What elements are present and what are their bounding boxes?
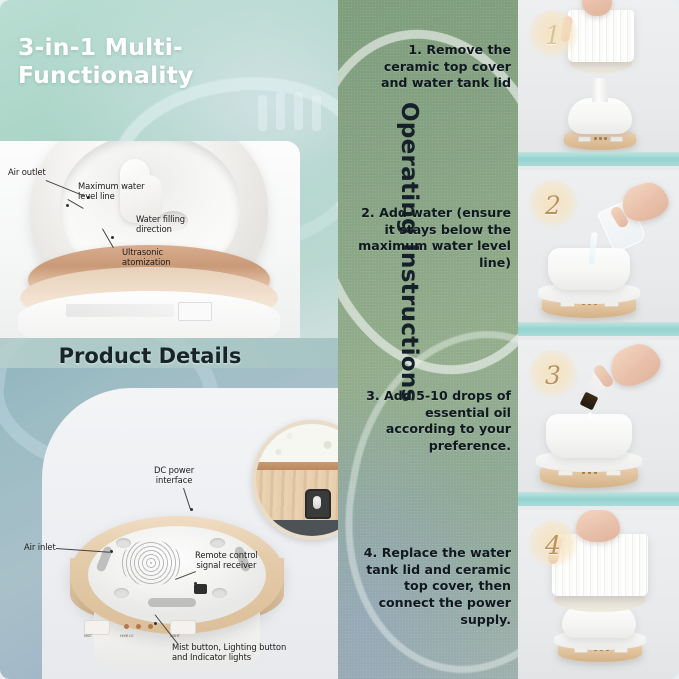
indicator-dot-1a xyxy=(594,137,597,140)
step-badge-2: 2 xyxy=(528,180,578,230)
rubber-foot-top-left xyxy=(116,538,131,548)
lighting-button-plate xyxy=(170,620,196,635)
callout-air-outlet: Air outlet xyxy=(8,168,46,178)
photo-panel-2: 2 xyxy=(518,170,679,336)
control-plate-1b xyxy=(610,136,623,142)
indicator-led-2 xyxy=(136,624,141,629)
photo-panel-4: 4 xyxy=(518,510,679,679)
water-strip-2 xyxy=(518,322,679,336)
indicator-microtext: HI MI LO xyxy=(120,634,133,638)
leader-dot-ultrasonic xyxy=(111,236,114,239)
rubber-foot-bottom-right xyxy=(212,588,227,598)
base-label-print xyxy=(66,304,174,317)
water-tank-1 xyxy=(568,98,632,134)
callout-mist-lighting-indicator: Mist button, Lighting button and Indicat… xyxy=(172,643,286,663)
water-strip-3 xyxy=(518,492,679,506)
product-details-panel: Product Details xyxy=(0,338,338,679)
step-badge-3-number: 3 xyxy=(545,361,561,390)
hand-4 xyxy=(576,510,620,542)
oil-drop-3 xyxy=(588,412,592,419)
product-infographic: 3-in-1 Multi-Functionality Air outlet Ma… xyxy=(0,0,679,679)
leader-dot-dc-power xyxy=(190,508,193,511)
step-badge-3: 3 xyxy=(528,350,578,400)
callout-maximum-water-level-line: Maximum water level line xyxy=(78,182,145,202)
step-badge-1-number: 1 xyxy=(545,21,561,50)
step-text-1: 1. Remove the ceramic top cover and wate… xyxy=(353,42,511,92)
step-badge-4: 4 xyxy=(528,520,578,570)
water-strip-1 xyxy=(518,152,679,166)
air-inlet-mesh-icon xyxy=(120,540,182,586)
mist-button-microtext: MIST xyxy=(84,634,92,638)
page-title: 3-in-1 Multi-Functionality xyxy=(18,33,328,89)
ghost-column-2-icon xyxy=(276,92,285,130)
dc-power-port-shape xyxy=(305,489,331,519)
leader-dot-buttons xyxy=(154,622,157,625)
rubber-foot-bottom-left xyxy=(114,588,129,598)
indicator-led-3 xyxy=(148,624,153,629)
dc-power-port-inset-photo xyxy=(252,420,338,540)
leader-dot-max-level xyxy=(66,204,69,207)
ghost-column-3-icon xyxy=(294,92,303,130)
callout-air-inlet: Air inlet xyxy=(24,543,56,553)
leader-dot-air-inlet xyxy=(110,550,113,553)
callout-water-filling-direction: Water filling direction xyxy=(136,215,185,235)
photo-strip-column: 1 2 xyxy=(518,0,679,679)
product-details-title: Product Details xyxy=(0,344,300,368)
step-text-3: 3. Add 5-10 drops of essential oil accor… xyxy=(353,388,511,455)
callout-dc-power-interface: DC power interface xyxy=(154,466,194,486)
ceramic-texture-shape xyxy=(256,424,338,464)
hero-panel: 3-in-1 Multi-Functionality Air outlet Ma… xyxy=(0,0,338,341)
base-certification-badge xyxy=(178,302,212,321)
step-badge-1: 1 xyxy=(528,10,578,60)
callout-ultrasonic-atomization: Ultrasonic atomization xyxy=(122,248,171,268)
indicator-led-1 xyxy=(124,624,129,629)
step-text-4: 4. Replace the water tank lid and cerami… xyxy=(353,545,511,629)
callout-remote-control-signal-receiver: Remote control signal receiver xyxy=(195,551,258,571)
rubber-foot-top-right xyxy=(210,538,225,548)
step-badge-2-number: 2 xyxy=(545,191,561,220)
inset-shadow-shape xyxy=(256,520,338,536)
water-tank-open-3 xyxy=(546,414,632,458)
step-text-2: 2. Add water (ensure it stays below the … xyxy=(353,205,511,272)
photo-panel-1: 1 xyxy=(518,0,679,166)
left-column: 3-in-1 Multi-Functionality Air outlet Ma… xyxy=(0,0,338,679)
product-details-photo-card: MIST HI MI LO LIGHT xyxy=(42,388,338,679)
indicator-dot-1b xyxy=(599,137,602,140)
tank-neck-1 xyxy=(592,78,608,102)
ghost-column-4-icon xyxy=(312,95,321,131)
indicator-dot-1c xyxy=(604,137,607,140)
mist-button-plate xyxy=(84,620,110,635)
ir-receiver-shape xyxy=(194,584,207,594)
control-plate-1a xyxy=(578,136,591,142)
vent-slot-bottom xyxy=(148,598,196,607)
leader-dot-ir xyxy=(194,582,197,585)
step-badge-4-number: 4 xyxy=(545,531,561,560)
ghost-column-1-icon xyxy=(258,95,267,131)
operating-instructions-column: Operating Instructions 1. Remove the cer… xyxy=(338,0,518,679)
photo-panel-3: 3 xyxy=(518,340,679,506)
